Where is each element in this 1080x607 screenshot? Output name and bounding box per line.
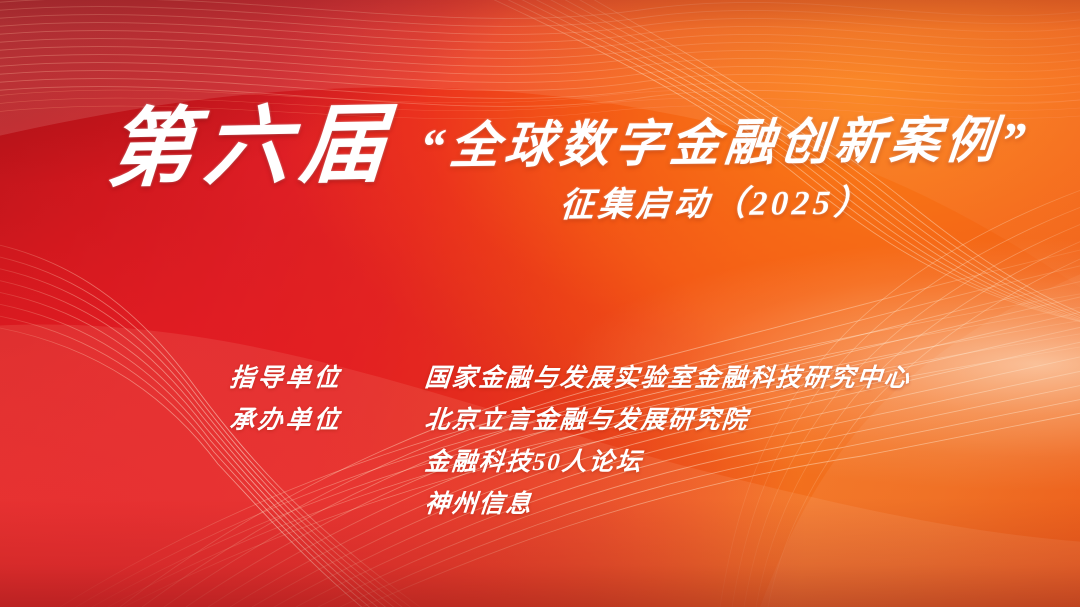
headline-block: 第六届 “全球数字金融创新案例” 征集启动（2025） (0, 108, 1080, 218)
credit-row: 金融科技50人论坛 (230, 442, 1030, 484)
credit-value-guidance: 国家金融与发展实验室金融科技研究中心 (423, 358, 912, 394)
main-title: “全球数字金融创新案例” (417, 115, 1032, 171)
credit-value-organizer: 北京立言金融与发展研究院 (423, 400, 750, 436)
credits-block: 指导单位 国家金融与发展实验室金融科技研究中心 承办单位 北京立言金融与发展研究… (230, 358, 1030, 526)
credit-row: 神州信息 (230, 484, 1030, 526)
credit-label-organizer: 承办单位 (228, 400, 426, 436)
poster-canvas: 第六届 “全球数字金融创新案例” 征集启动（2025） 指导单位 国家金融与发展… (0, 0, 1080, 607)
credit-row: 指导单位 国家金融与发展实验室金融科技研究中心 (230, 358, 1030, 400)
edition-title: 第六届 (105, 101, 399, 193)
credit-value-forum: 金融科技50人论坛 (423, 442, 644, 478)
subtitle: 征集启动（2025） (559, 187, 874, 224)
credit-row: 承办单位 北京立言金融与发展研究院 (230, 400, 1030, 442)
ribbon-group-top (0, 0, 1080, 106)
credit-label-guidance: 指导单位 (228, 358, 426, 394)
credit-value-sponsor: 神州信息 (423, 484, 534, 520)
